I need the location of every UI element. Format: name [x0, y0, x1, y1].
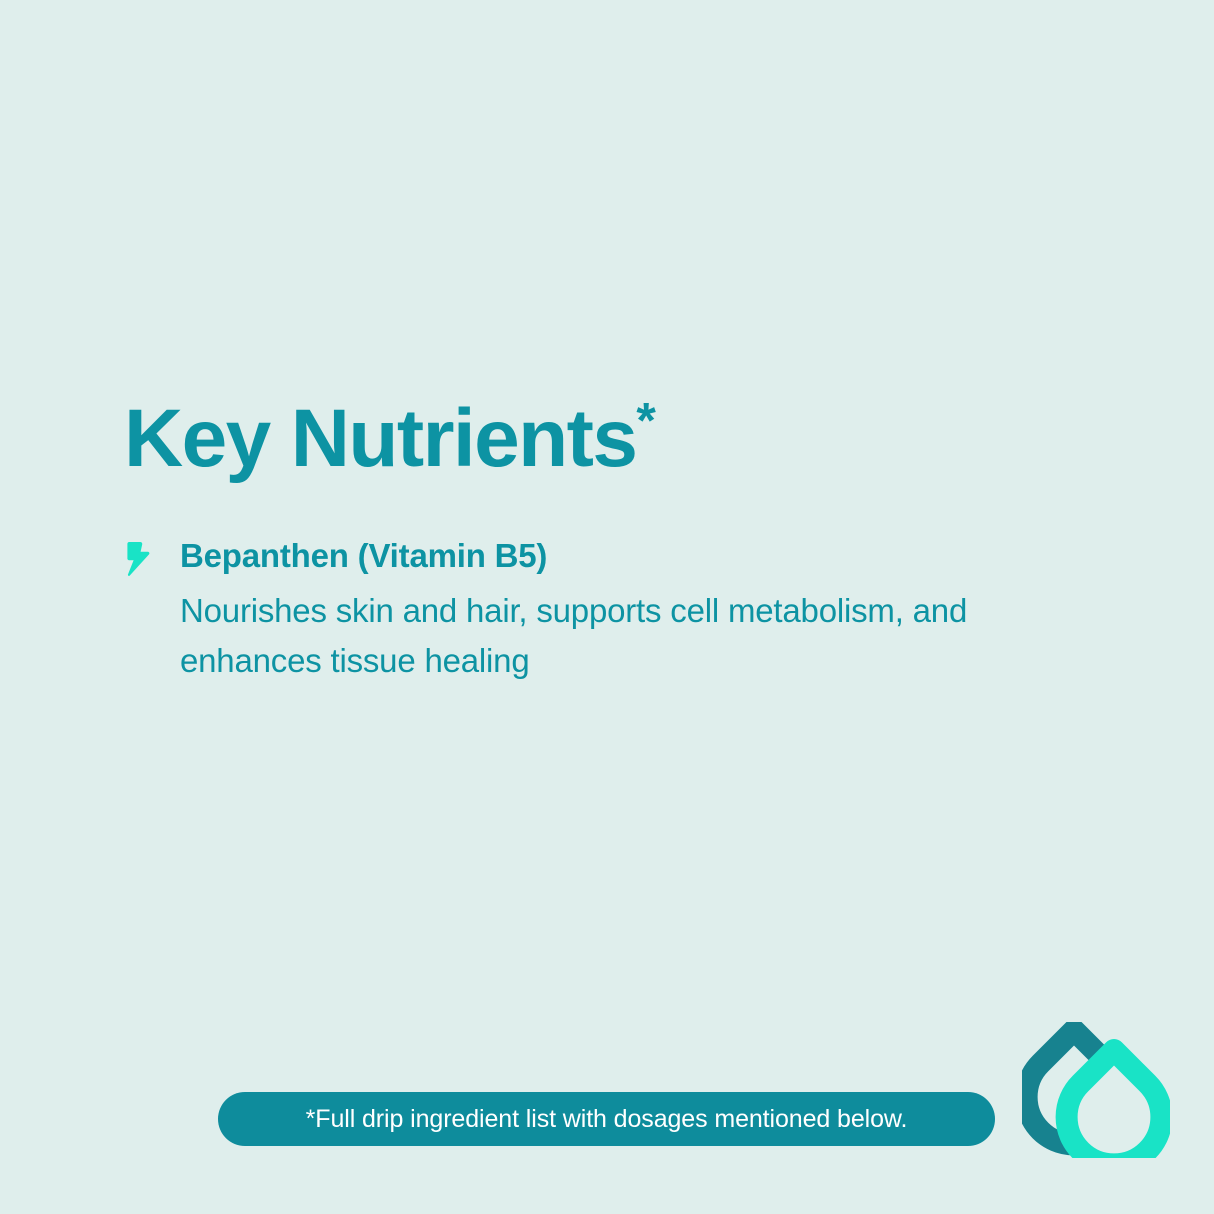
nutrient-name: Bepanthen (Vitamin B5)	[180, 534, 1104, 578]
key-nutrients-card: Key Nutrients* Bepanthen (Vitamin B5) No…	[0, 0, 1214, 1214]
lightning-bolt-icon	[124, 542, 154, 576]
two-droplets-logo	[1022, 1022, 1170, 1158]
footnote-pill: *Full drip ingredient list with dosages …	[218, 1092, 995, 1146]
page-title: Key Nutrients*	[124, 398, 656, 480]
page-title-text: Key Nutrients	[124, 393, 636, 484]
footnote-text: *Full drip ingredient list with dosages …	[306, 1107, 908, 1132]
nutrient-list: Bepanthen (Vitamin B5) Nourishes skin an…	[124, 534, 1104, 686]
list-item: Bepanthen (Vitamin B5) Nourishes skin an…	[124, 534, 1104, 686]
page-title-asterisk: *	[636, 393, 655, 449]
nutrient-description: Nourishes skin and hair, supports cell m…	[180, 586, 1104, 686]
